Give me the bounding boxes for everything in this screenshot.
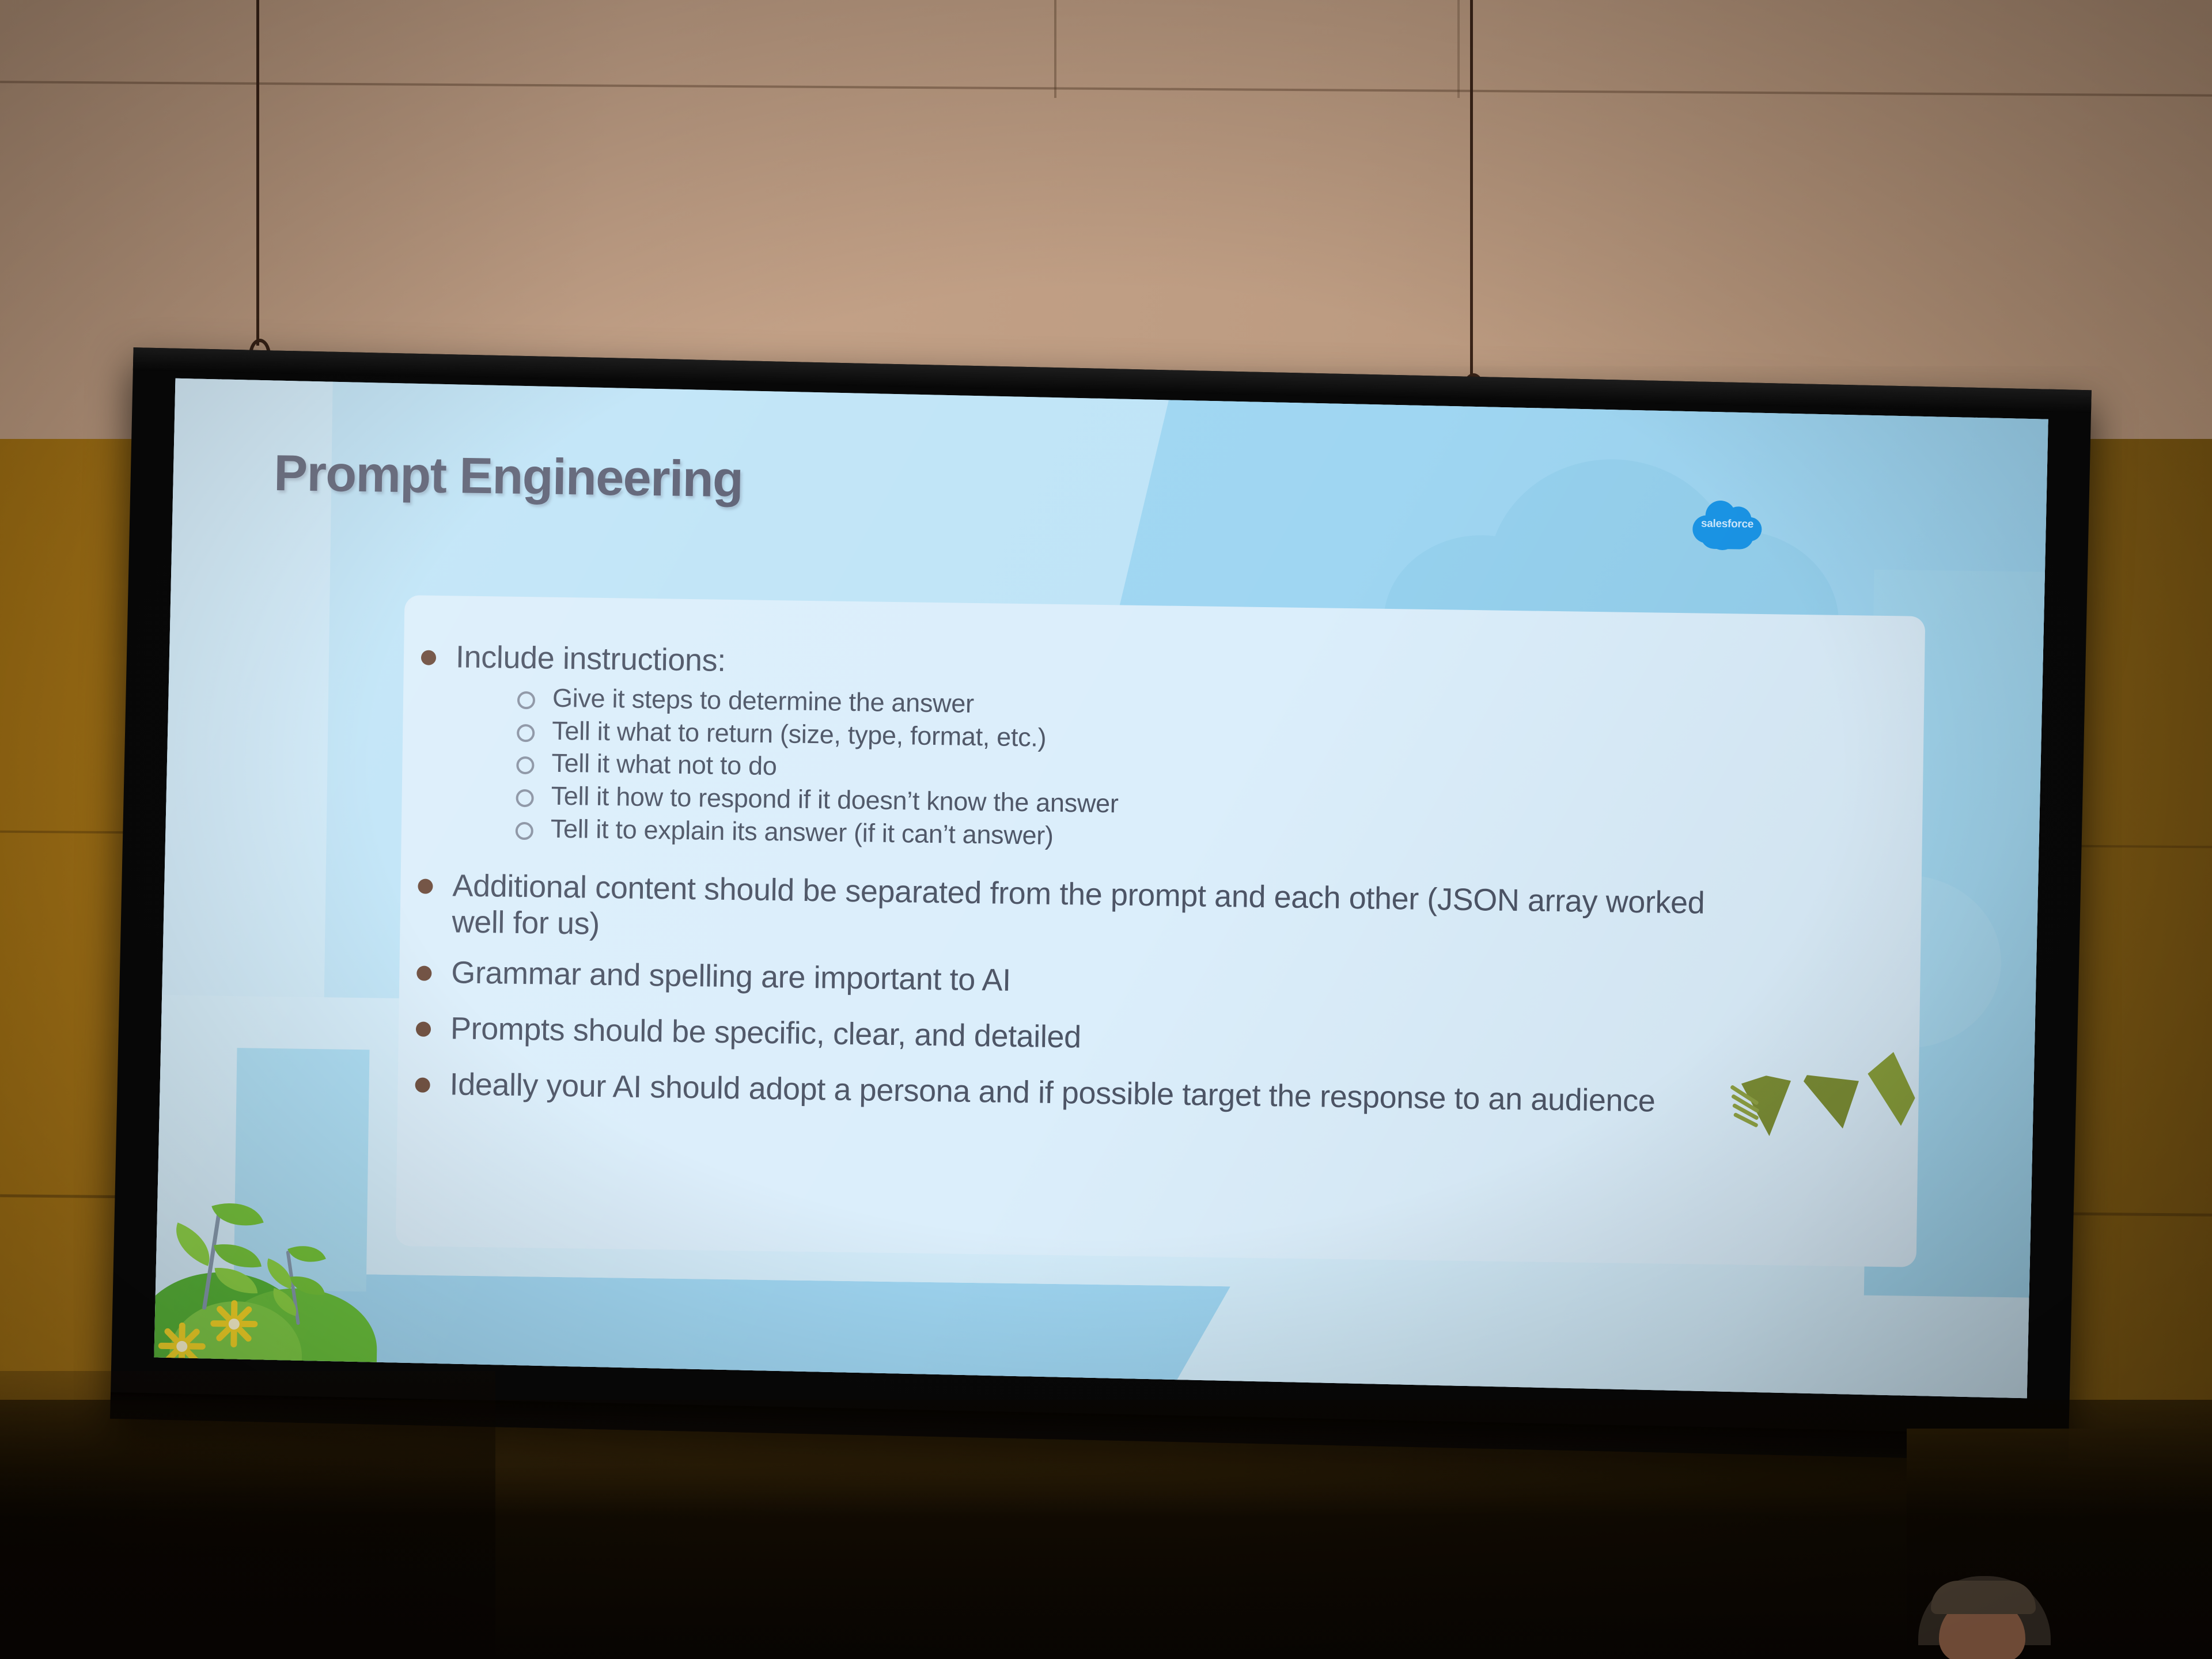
sub-bullet-circle-icon bbox=[517, 691, 535, 709]
frond-icon bbox=[1729, 1078, 1777, 1124]
sub-bullet-circle-icon bbox=[517, 724, 535, 741]
bullet-item: Additional content should be separated f… bbox=[417, 868, 1778, 959]
sub-bullet-circle-icon bbox=[516, 756, 534, 774]
bullet-item: Include instructions: Give it steps to d… bbox=[418, 639, 1781, 872]
slide-body: Include instructions: Give it steps to d… bbox=[415, 639, 1781, 1136]
suspension-cable-left bbox=[256, 0, 259, 346]
bullet-dot-icon bbox=[416, 1021, 431, 1036]
projection-screen: Prompt Engineering salesforce bbox=[109, 347, 2092, 1513]
bullet-dot-icon bbox=[418, 879, 433, 894]
bullet-item: Grammar and spelling are important to AI bbox=[416, 955, 1777, 1010]
flower-icon bbox=[157, 1321, 207, 1371]
salesforce-cloud-icon: salesforce bbox=[1690, 498, 1764, 552]
bullet-item: Ideally your AI should adopt a persona a… bbox=[415, 1066, 1775, 1121]
screen-frame: Prompt Engineering salesforce bbox=[110, 347, 2092, 1461]
wall-seam-vertical-right bbox=[1457, 0, 1460, 98]
bullet-text: Additional content should be separated f… bbox=[452, 868, 1720, 957]
sub-bullet-circle-icon bbox=[516, 822, 533, 840]
presentation-slide: Prompt Engineering salesforce bbox=[154, 378, 2048, 1399]
flower-icon bbox=[209, 1299, 259, 1349]
conference-room-scene: Prompt Engineering salesforce bbox=[0, 0, 2212, 1659]
sub-bullet-text: Give it steps to determine the answer bbox=[552, 682, 974, 719]
sub-bullet-text: Tell it what not to do bbox=[551, 748, 777, 782]
foreground-shadow bbox=[0, 1400, 2212, 1659]
salesforce-wordmark: salesforce bbox=[1690, 517, 1764, 531]
suspension-cable-right bbox=[1470, 0, 1473, 380]
plant-leaf bbox=[211, 1193, 263, 1236]
plant-illustration bbox=[154, 1185, 391, 1396]
bullet-text: Ideally your AI should adopt a persona a… bbox=[449, 1066, 1656, 1119]
sub-bullet-circle-icon bbox=[516, 789, 533, 807]
sub-bullet-list: Give it steps to determine the answer Te… bbox=[515, 681, 1780, 862]
bullet-text: Grammar and spelling are important to AI bbox=[451, 955, 1011, 999]
leaf-shape bbox=[1803, 1075, 1859, 1128]
bullet-text: Prompts should be specific, clear, and d… bbox=[450, 1010, 1082, 1055]
plant-leaf bbox=[287, 1237, 326, 1271]
bullet-dot-icon bbox=[416, 966, 431, 981]
bullet-item: Prompts should be specific, clear, and d… bbox=[416, 1010, 1776, 1065]
audience-person bbox=[1918, 1576, 2051, 1659]
person-hair-top bbox=[1931, 1581, 2036, 1614]
leaves-illustration bbox=[1716, 1066, 1913, 1155]
slide-title: Prompt Engineering bbox=[274, 444, 743, 509]
screen-surface: Prompt Engineering salesforce bbox=[154, 378, 2048, 1399]
sub-bullet-text: Tell it what to return (size, type, form… bbox=[552, 715, 1047, 753]
wall-seam-vertical-left bbox=[1054, 0, 1056, 98]
bullet-dot-icon bbox=[421, 650, 436, 665]
bullet-dot-icon bbox=[415, 1077, 430, 1092]
sub-bullet-text: Tell it to explain its answer (if it can… bbox=[550, 813, 1054, 852]
